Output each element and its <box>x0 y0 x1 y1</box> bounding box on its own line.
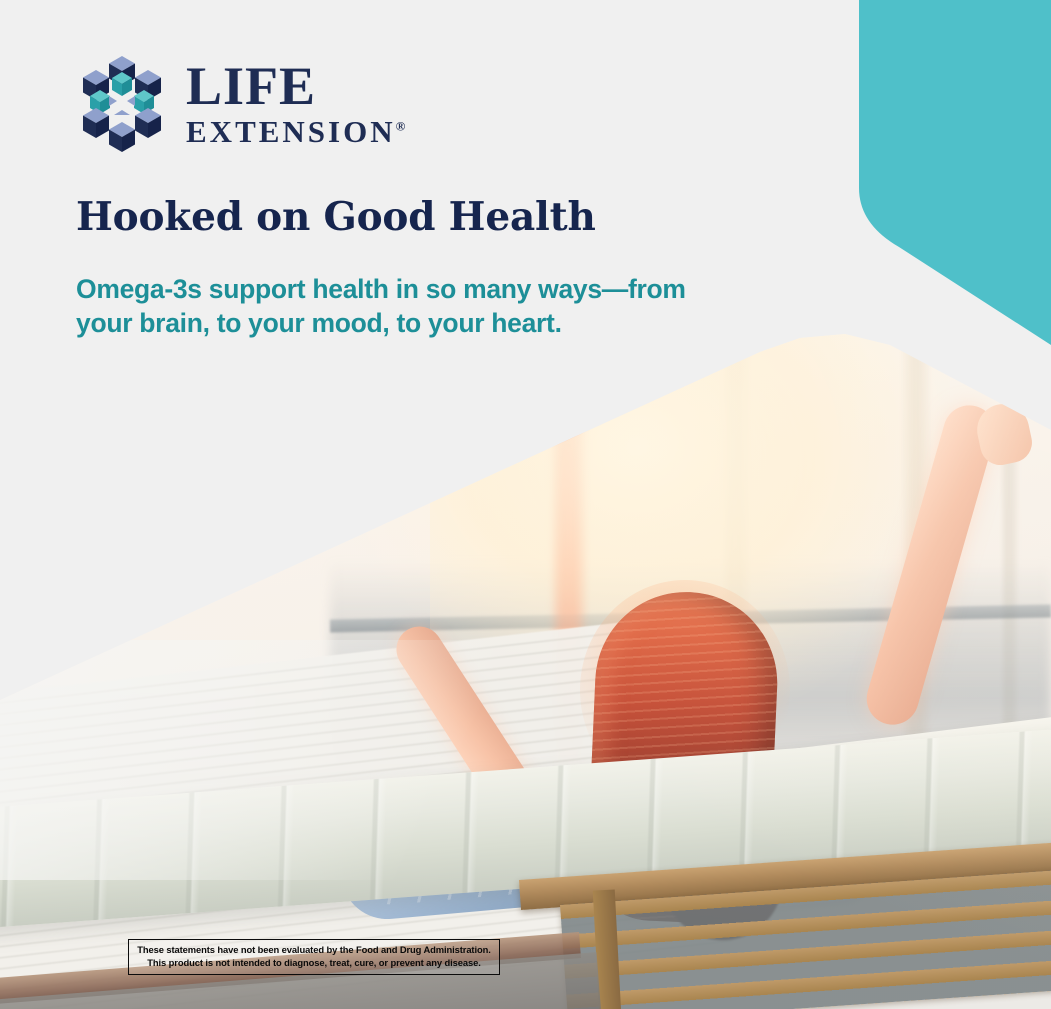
hexagon-cube-logo-icon <box>76 52 168 156</box>
brand-name-extension: EXTENSION® <box>186 116 405 147</box>
promo-page: LIFE EXTENSION® Hooked on Good Health Om… <box>0 0 1051 1009</box>
subheadline: Omega-3s support health in so many ways—… <box>76 272 736 341</box>
fda-disclaimer: These statements have not been evaluated… <box>128 939 500 975</box>
teal-corner-shape <box>859 0 1051 345</box>
fda-disclaimer-line-2: This product is not intended to diagnose… <box>135 956 493 969</box>
registered-mark: ® <box>396 119 406 134</box>
fda-disclaimer-line-1: These statements have not been evaluated… <box>135 943 493 956</box>
brand-name-life: LIFE <box>186 61 405 113</box>
page-title: Hooked on Good Health <box>76 196 596 239</box>
brand-logo[interactable]: LIFE EXTENSION® <box>76 52 405 156</box>
brand-wordmark: LIFE EXTENSION® <box>186 61 405 147</box>
